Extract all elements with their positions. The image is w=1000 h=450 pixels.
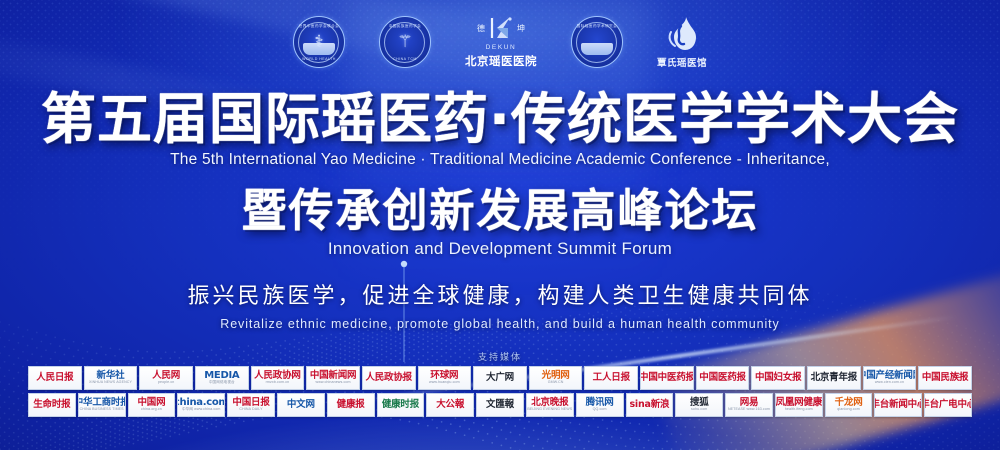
media-logo-cell[interactable]: 光明网GMW.CN xyxy=(529,366,583,390)
subtitle-block: 暨传承创新发展高峰论坛 Innovation and Development S… xyxy=(0,188,1000,259)
media-logo-cell[interactable]: MEDIA中国网络电视台 xyxy=(195,366,249,390)
media-logo-cell[interactable]: 中国网china.org.cn xyxy=(128,393,176,417)
slogan-cn: 振兴民族医学，促进全球健康，构建人类卫生健康共同体 xyxy=(0,278,1000,310)
media-logo-cell[interactable]: 中国产经新闻网www.cien.com.cn xyxy=(863,366,917,390)
media-logo-cell[interactable]: 健康报 xyxy=(327,393,375,417)
media-logo-name: 生命时报 xyxy=(33,400,70,410)
seal-arc-top-text: 中国民族医药学会 xyxy=(389,24,421,29)
media-logo-cell[interactable]: 人民政协报 xyxy=(362,366,416,390)
flame-icon xyxy=(667,16,697,52)
media-logo-subtitle: CHINA DAILY xyxy=(239,408,262,412)
dekun-k-icon xyxy=(488,15,514,41)
circular-seal-icon: 世界中医药学会联合会 ⚕ WORLD HEALTH xyxy=(293,16,345,68)
media-logo-subtitle: rmzxb.com.cn xyxy=(266,381,290,385)
media-logo-subtitle: qianlong.com xyxy=(837,408,860,412)
media-logo-cell[interactable]: 环球网www.huanqiu.com xyxy=(418,366,472,390)
seal-landscape-band xyxy=(581,43,613,55)
media-logo-subtitle: CHINA BUSINESS TIMES xyxy=(80,408,124,412)
media-logo-subtitle: people.cn xyxy=(158,381,175,385)
media-logo-cell[interactable]: 中华工商时报CHINA BUSINESS TIMES xyxy=(78,393,126,417)
media-logo-cell[interactable]: 新华社XINHUA NEWS AGENCY xyxy=(84,366,138,390)
seal-arc-bottom-text: WORLD HEALTH xyxy=(302,57,336,61)
media-logo-cell[interactable]: 生命时报 xyxy=(28,393,76,417)
media-logo-cell[interactable]: 文匯報 xyxy=(476,393,524,417)
media-logo-subtitle: 中国网络电视台 xyxy=(209,381,235,385)
media-logo-name: 中国妇女报 xyxy=(755,373,802,383)
dekun-logo: 德 坤 DEKUN 北京瑶医医院 xyxy=(465,15,537,69)
media-logo-name: 人民日报 xyxy=(36,373,73,383)
media-logo-subtitle: QQ.com xyxy=(593,408,607,412)
media-logo-name: 丰台广电中心 xyxy=(924,400,972,410)
media-logo-cell[interactable]: 丰台新闻中心 xyxy=(874,393,922,417)
subtitle-cn: 暨传承创新发展高峰论坛 xyxy=(0,188,1000,233)
media-logo-cell[interactable]: 人民网people.cn xyxy=(139,366,193,390)
media-logo-cell[interactable]: 网易NETEASE www.163.com xyxy=(725,393,773,417)
seal-globe-band xyxy=(303,43,335,55)
media-logo-name: 健康时报 xyxy=(382,400,419,410)
media-logo-name: 健康报 xyxy=(337,400,365,410)
flame-logo: 覃氏瑶医馆 xyxy=(657,16,707,69)
tcm-seal-logo: 中国民族医药学会 ⚚ CHINA TCM xyxy=(379,16,431,68)
media-logo-cell[interactable]: 中国中医药报 xyxy=(640,366,694,390)
dekun-char-left: 德 xyxy=(477,23,485,34)
flame-org-name: 覃氏瑶医馆 xyxy=(657,55,707,69)
media-logo-cell[interactable]: 搜狐sohu.com xyxy=(675,393,723,417)
seal-arc-top-text: 国际瑶医药学术研究会 xyxy=(577,24,617,29)
media-logo-subtitle: www.chinanews.com xyxy=(316,381,351,385)
media-logo-cell[interactable]: 工人日报 xyxy=(584,366,638,390)
slogan-en: Revitalize ethnic medicine, promote glob… xyxy=(0,317,1000,331)
media-logo-cell[interactable]: 北京晚报BEIJING EVENING NEWS xyxy=(526,393,574,417)
main-title-cn: 第五届国际瑶医药·传统医学学术大会 xyxy=(0,92,1000,147)
media-logo-name: 工人日报 xyxy=(593,373,630,383)
media-logo-name: 中国中医药报 xyxy=(640,373,694,383)
subtitle-en: Innovation and Development Summit Forum xyxy=(0,239,1000,259)
circular-seal-icon: 国际瑶医药学术研究会 xyxy=(571,16,623,68)
slogan-block: 振兴民族医学，促进全球健康，构建人类卫生健康共同体 Revitalize eth… xyxy=(0,278,1000,331)
media-logo-cell[interactable]: 中国医药报 xyxy=(696,366,750,390)
media-logo-name: 大广网 xyxy=(486,373,514,383)
media-logo-row-1: 人民日报新华社XINHUA NEWS AGENCY人民网people.cnMED… xyxy=(28,366,972,390)
media-logo-subtitle: sohu.com xyxy=(691,408,707,412)
media-logo-name: 文匯報 xyxy=(486,400,514,410)
media-logo-subtitle: 中华网 www.china.com xyxy=(182,408,220,412)
media-logo-row-2: 生命时报中华工商时报CHINA BUSINESS TIMES中国网china.o… xyxy=(28,393,972,417)
dekun-org-name: 北京瑶医医院 xyxy=(465,53,537,69)
media-logo-cell[interactable]: 腾讯网QQ.com xyxy=(576,393,624,417)
main-title-en: The 5th International Yao Medicine · Tra… xyxy=(0,151,1000,169)
circular-seal-icon: 中国民族医药学会 ⚚ CHINA TCM xyxy=(379,16,431,68)
media-logo-cell[interactable]: 凤凰网健康health.ifeng.com xyxy=(775,393,823,417)
media-logo-subtitle: www.cien.com.cn xyxy=(875,381,904,385)
media-logo-name: 北京青年报 xyxy=(811,373,858,383)
media-logo-subtitle: NETEASE www.163.com xyxy=(728,408,770,412)
media-logo-cell[interactable]: 中国民族报 xyxy=(918,366,972,390)
dekun-latin-tag: DEKUN xyxy=(486,44,517,51)
media-logo-name: 人民政协报 xyxy=(365,373,412,383)
organizer-logo-strip: 世界中医药学会联合会 ⚕ WORLD HEALTH 中国民族医药学会 ⚚ CHI… xyxy=(0,8,1000,76)
conference-banner: 世界中医药学会联合会 ⚕ WORLD HEALTH 中国民族医药学会 ⚚ CHI… xyxy=(0,0,1000,450)
media-logo-subtitle: health.ifeng.com xyxy=(785,408,813,412)
media-logo-name: sina新浪 xyxy=(629,400,669,410)
caduceus-icon: ⚚ xyxy=(380,33,430,50)
dekun-char-right: 坤 xyxy=(517,23,525,34)
media-logo-subtitle: GMW.CN xyxy=(548,381,564,385)
dekun-mark: 德 坤 xyxy=(477,15,525,41)
main-title-block: 第五届国际瑶医药·传统医学学术大会 The 5th International … xyxy=(0,92,1000,169)
media-logo-cell[interactable]: 健康时报 xyxy=(377,393,425,417)
media-logo-subtitle: www.huanqiu.com xyxy=(429,381,460,385)
wcms-seal-logo: 世界中医药学会联合会 ⚕ WORLD HEALTH xyxy=(293,16,345,68)
media-logo-name: 中文网 xyxy=(287,400,315,410)
media-logo-name: 中国民族报 xyxy=(922,373,969,383)
media-logo-name: 丰台新闻中心 xyxy=(874,400,922,410)
media-logo-cell[interactable]: 中文网 xyxy=(277,393,325,417)
media-logo-subtitle: BEIJING EVENING NEWS xyxy=(527,408,572,412)
yao-institute-seal-logo: 国际瑶医药学术研究会 xyxy=(571,16,623,68)
media-logo-cell[interactable]: 人民日报 xyxy=(28,366,82,390)
media-logo-subtitle: china.org.cn xyxy=(141,408,162,412)
media-logo-cell[interactable]: sina新浪 xyxy=(626,393,674,417)
media-logo-cell[interactable]: 人民政协网rmzxb.com.cn xyxy=(251,366,305,390)
media-logo-name: 中国医药报 xyxy=(699,373,746,383)
media-logo-grid: 人民日报新华社XINHUA NEWS AGENCY人民网people.cnMED… xyxy=(0,366,1000,417)
media-logo-subtitle: XINHUA NEWS AGENCY xyxy=(89,381,132,385)
media-logo-cell[interactable]: 中国日报CHINA DAILY xyxy=(227,393,275,417)
seal-arc-top-text: 世界中医药学会联合会 xyxy=(299,24,339,29)
media-logo-name: 大公報 xyxy=(436,400,464,410)
media-logo-cell[interactable]: china.com中华网 www.china.com xyxy=(177,393,225,417)
media-logo-cell[interactable]: 千龙网qianlong.com xyxy=(825,393,873,417)
media-logo-cell[interactable]: 大广网 xyxy=(473,366,527,390)
media-section-label: 支持媒体 xyxy=(0,350,1000,363)
media-logo-cell[interactable]: 大公報 xyxy=(426,393,474,417)
media-logo-cell[interactable]: 中国妇女报 xyxy=(751,366,805,390)
media-logo-cell[interactable]: 北京青年报 xyxy=(807,366,861,390)
media-logo-cell[interactable]: 丰台广电中心 xyxy=(924,393,972,417)
media-logo-cell[interactable]: 中国新闻网www.chinanews.com xyxy=(306,366,360,390)
seal-arc-bottom-text: CHINA TCM xyxy=(393,57,417,61)
